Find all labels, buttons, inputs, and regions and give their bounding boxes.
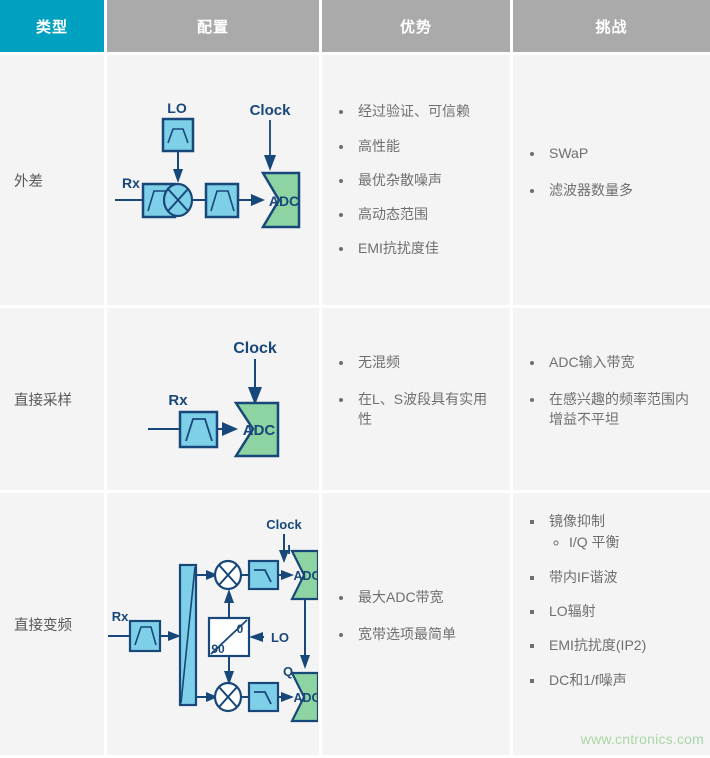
clock-label: Clock [233,340,277,357]
lo-label: LO [167,100,187,116]
clock-label: Clock [266,517,302,532]
comparison-table: 类型 配置 优势 挑战 外差 LO Clock [0,0,710,758]
list-item: LO辐射 [545,601,700,621]
clock-arrow-head [264,155,276,171]
adc-q-input-arrow [281,692,294,702]
table-header-advantages: 优势 [322,0,510,52]
table-header-challenges: 挑战 [513,0,710,52]
list-item: 在L、S波段具有实用性 [354,389,500,430]
advantages-list: 无混频 在L、S波段具有实用性 [336,352,500,447]
row-type-label: 直接变频 [14,614,72,635]
header-label-challenges: 挑战 [595,16,627,37]
list-item: 滤波器数量多 [545,180,700,200]
q-channel-label: Q [283,664,293,679]
table-row: 直接变频 [0,493,104,755]
if-filter-box [206,184,238,217]
advantages-list: 经过验证、可信赖 高性能 最优杂散噪声 高动态范围 EMI抗扰度佳 [336,101,500,258]
clock-to-adc-q-arrow [300,655,310,669]
row-type-label: 直接采样 [14,389,72,410]
lpf-i-box [249,561,278,589]
header-label-configuration: 配置 [197,16,229,37]
header-label-advantages: 优势 [400,16,432,37]
rx-filter-box [180,412,217,447]
hybrid-90-label: 90 [211,642,225,656]
direct-sampling-diagram: Clock Rx ADC [118,329,308,469]
adc-label: ADC [269,193,299,209]
challenges-sublist: I/Q 平衡 [549,533,700,553]
challenges-cell-row2: ADC输入带宽 在感兴趣的频率范围内增益不平坦 [513,308,710,490]
table-header-type: 类型 [0,0,104,52]
adc-i-label: ADC [293,569,318,583]
challenges-cell-row1: SWaP 滤波器数量多 [513,55,710,305]
list-item: 无混频 [354,352,500,372]
direct-conversion-diagram-cell: Clock Rx [107,493,319,755]
hybrid-0-label: 0 [237,622,244,636]
rx-filter-box [130,621,160,651]
advantages-cell-row2: 无混频 在L、S波段具有实用性 [322,308,510,490]
list-item: 镜像抑制 I/Q 平衡 [545,511,700,553]
lo-filter-box [163,119,193,151]
advantages-cell-row1: 经过验证、可信赖 高性能 最优杂散噪声 高动态范围 EMI抗扰度佳 [322,55,510,305]
direct-conversion-diagram: Clock Rx [108,507,318,742]
adc-label: ADC [243,422,276,439]
list-item: DC和1/f噪声 [545,670,700,690]
lpf-q-box [249,683,278,711]
challenges-list: SWaP 滤波器数量多 [527,143,700,218]
hybrid-to-mixer-i-arrow [224,589,234,603]
challenges-list: 镜像抑制 I/Q 平衡 带内IF谐波 LO辐射 EMI抗扰度(IP2) DC和1… [527,511,700,690]
list-item: 在感兴趣的频率范围内增益不平坦 [545,389,700,430]
adc-q-label: ADC [293,691,318,705]
header-label-type: 类型 [36,16,68,37]
direct-sampling-diagram-cell: Clock Rx ADC [107,308,319,490]
challenges-list: ADC输入带宽 在感兴趣的频率范围内增益不平坦 [527,352,700,447]
rx-label: Rx [168,392,188,409]
challenges-cell-row3: 镜像抑制 I/Q 平衡 带内IF谐波 LO辐射 EMI抗扰度(IP2) DC和1… [513,493,710,755]
list-item: SWaP [545,143,700,163]
sub-list-item: I/Q 平衡 [569,533,700,553]
list-item: 高性能 [354,136,500,156]
i-channel-label: I [287,542,291,557]
list-item: 最优杂散噪声 [354,170,500,190]
table-header-configuration: 配置 [107,0,319,52]
list-item: ADC输入带宽 [545,352,700,372]
list-item: 高动态范围 [354,204,500,224]
adc-i-input-arrow [281,570,294,580]
row-type-label: 外差 [14,170,43,191]
list-item: 最大ADC带宽 [354,587,500,607]
lo-arrow-head [173,169,183,183]
list-item: EMI抗扰度佳 [354,238,500,258]
advantages-list: 最大ADC带宽 宽带选项最简单 [336,587,500,662]
table-row: 外差 [0,55,104,305]
adc-input-arrow [222,422,238,436]
watermark: www.cntronics.com [581,731,704,747]
list-item: EMI抗扰度(IP2) [545,635,700,655]
adc-input-arrow [251,194,265,206]
rx-label: Rx [122,175,140,191]
advantages-cell-row3: 最大ADC带宽 宽带选项最简单 [322,493,510,755]
lo-label: LO [271,630,289,645]
list-item: 经过验证、可信赖 [354,101,500,121]
superheterodyne-diagram-cell: LO Clock Rx [107,55,319,305]
lo-arrow-head [249,632,263,642]
list-item-text: 镜像抑制 [549,513,605,529]
list-item: 宽带选项最简单 [354,624,500,644]
table-row: 直接采样 [0,308,104,490]
list-item: 带内IF谐波 [545,567,700,587]
clock-label: Clock [250,102,292,119]
rx-label: Rx [112,609,129,624]
superheterodyne-diagram: LO Clock Rx [113,93,313,268]
